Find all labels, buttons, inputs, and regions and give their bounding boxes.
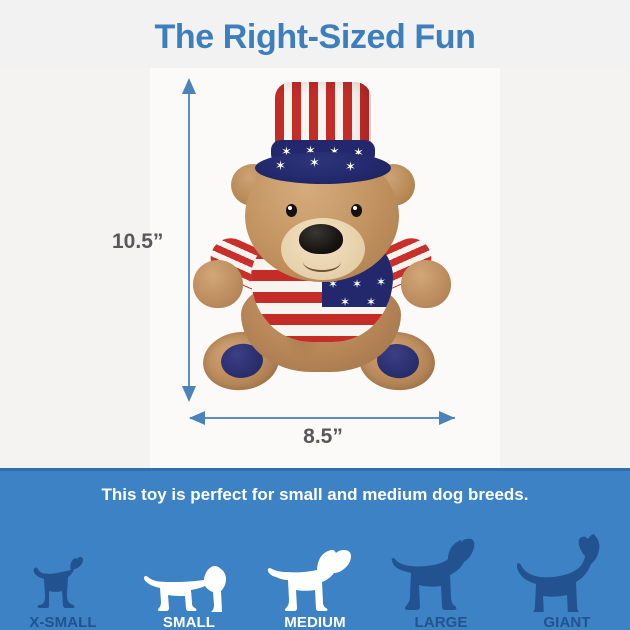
breed-item-giant[interactable]: GIANT (504, 519, 630, 630)
breed-item-x-small[interactable]: X-SMALL (0, 519, 126, 630)
breed-label-x-small: X-SMALL (29, 614, 96, 630)
uncle-sam-top-hat: ✶ ✶ ✶ ✶ ✶ ✶ ✶ (267, 82, 379, 178)
chihuahua-silhouette-icon (26, 536, 100, 612)
breed-label-giant: GIANT (543, 614, 590, 630)
height-measurement-label: 10.5” (112, 230, 163, 254)
height-arrow-line (188, 88, 190, 400)
bear-hand-right (401, 260, 451, 308)
arrow-left-icon (189, 411, 205, 425)
breed-headline: This toy is perfect for small and medium… (0, 485, 630, 505)
great-dane-silhouette-icon (517, 536, 617, 612)
bear-nose (299, 224, 343, 254)
hat-brim: ✶ ✶ ✶ (255, 152, 391, 184)
breed-item-small[interactable]: SMALL (126, 519, 252, 630)
width-measurement-label: 8.5” (0, 425, 630, 449)
bear-eye-right (351, 204, 362, 217)
bear-hand-left (193, 260, 243, 308)
breed-item-large[interactable]: LARGE (378, 519, 504, 630)
width-arrow-line (190, 417, 455, 419)
dachshund-silhouette-icon (143, 536, 235, 612)
product-size-infographic: The Right-Sized Fun 10.5” 8.5” ✶ ✶ ✶ (0, 0, 630, 630)
retriever-silhouette-icon (391, 536, 491, 612)
breed-size-band: This toy is perfect for small and medium… (0, 468, 630, 630)
bear-eye-left (286, 204, 297, 217)
bear-smile (303, 252, 341, 272)
breed-label-large: LARGE (415, 614, 468, 630)
breed-size-row: X-SMALL SMALL MEDIUM (0, 519, 630, 630)
breed-label-medium: MEDIUM (284, 614, 345, 630)
breed-label-small: SMALL (163, 614, 215, 630)
page-title: The Right-Sized Fun (0, 18, 630, 57)
bull-terrier-silhouette-icon (267, 536, 363, 612)
breed-item-medium[interactable]: MEDIUM (252, 519, 378, 630)
plush-bear-product-image: ✶ ✶ ✶ ✶ ✶ ✶ ✶ ✶ ✶ ✶ ✶ ✶ ✶ (193, 78, 453, 408)
arrow-right-icon (439, 411, 455, 425)
